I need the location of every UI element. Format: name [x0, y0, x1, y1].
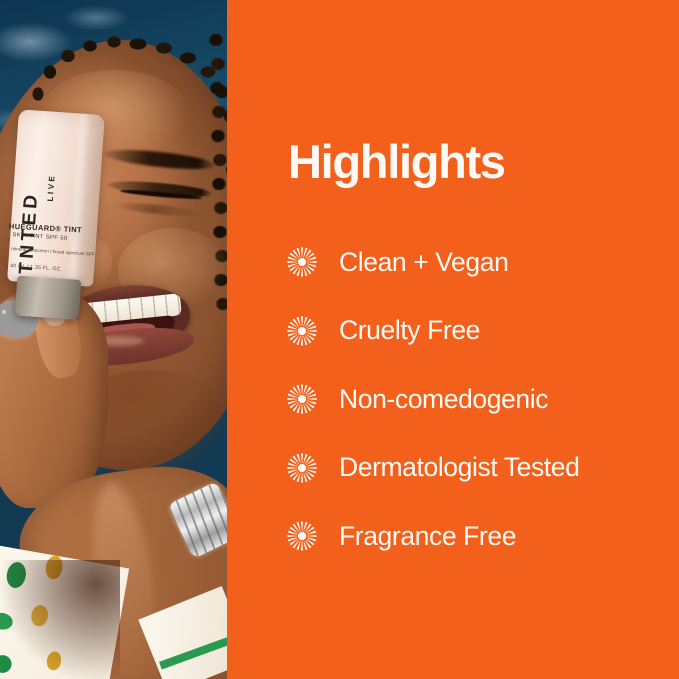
sunburst-icon: [287, 384, 317, 414]
tube-specular-highlight: [65, 113, 91, 286]
sunburst-icon: [287, 453, 317, 483]
highlight-item: Clean + Vegan: [287, 228, 667, 297]
highlights-list: Clean + VeganCruelty FreeNon-comedogenic…: [287, 228, 667, 571]
highlight-item: Fragrance Free: [287, 502, 667, 571]
sunburst-icon: [287, 521, 317, 551]
highlight-item-label: Clean + Vegan: [339, 247, 508, 278]
highlights-panel: Highlights Clean + VeganCruelty FreeNon-…: [227, 0, 679, 679]
highlight-item: Dermatologist Tested: [287, 434, 667, 503]
page-title: Highlights: [288, 138, 505, 185]
tube-cap: [15, 276, 82, 320]
arm-shadow: [0, 560, 120, 679]
highlight-item-label: Non-comedogenic: [339, 384, 548, 415]
highlight-item-label: Cruelty Free: [339, 315, 480, 346]
highlight-item: Non-comedogenic: [287, 365, 667, 434]
highlight-item: Cruelty Free: [287, 297, 667, 366]
sunburst-icon: [287, 316, 317, 346]
product-model-photo: TNTED LIVE HUEGUARD® TINT SKIN TINT SPF …: [0, 0, 227, 679]
highlight-item-label: Fragrance Free: [339, 521, 516, 552]
product-highlights-graphic: TNTED LIVE HUEGUARD® TINT SKIN TINT SPF …: [0, 0, 679, 679]
sunburst-icon: [287, 247, 317, 277]
product-tube: TNTED LIVE HUEGUARD® TINT SKIN TINT SPF …: [5, 109, 105, 315]
highlight-item-label: Dermatologist Tested: [339, 452, 579, 483]
